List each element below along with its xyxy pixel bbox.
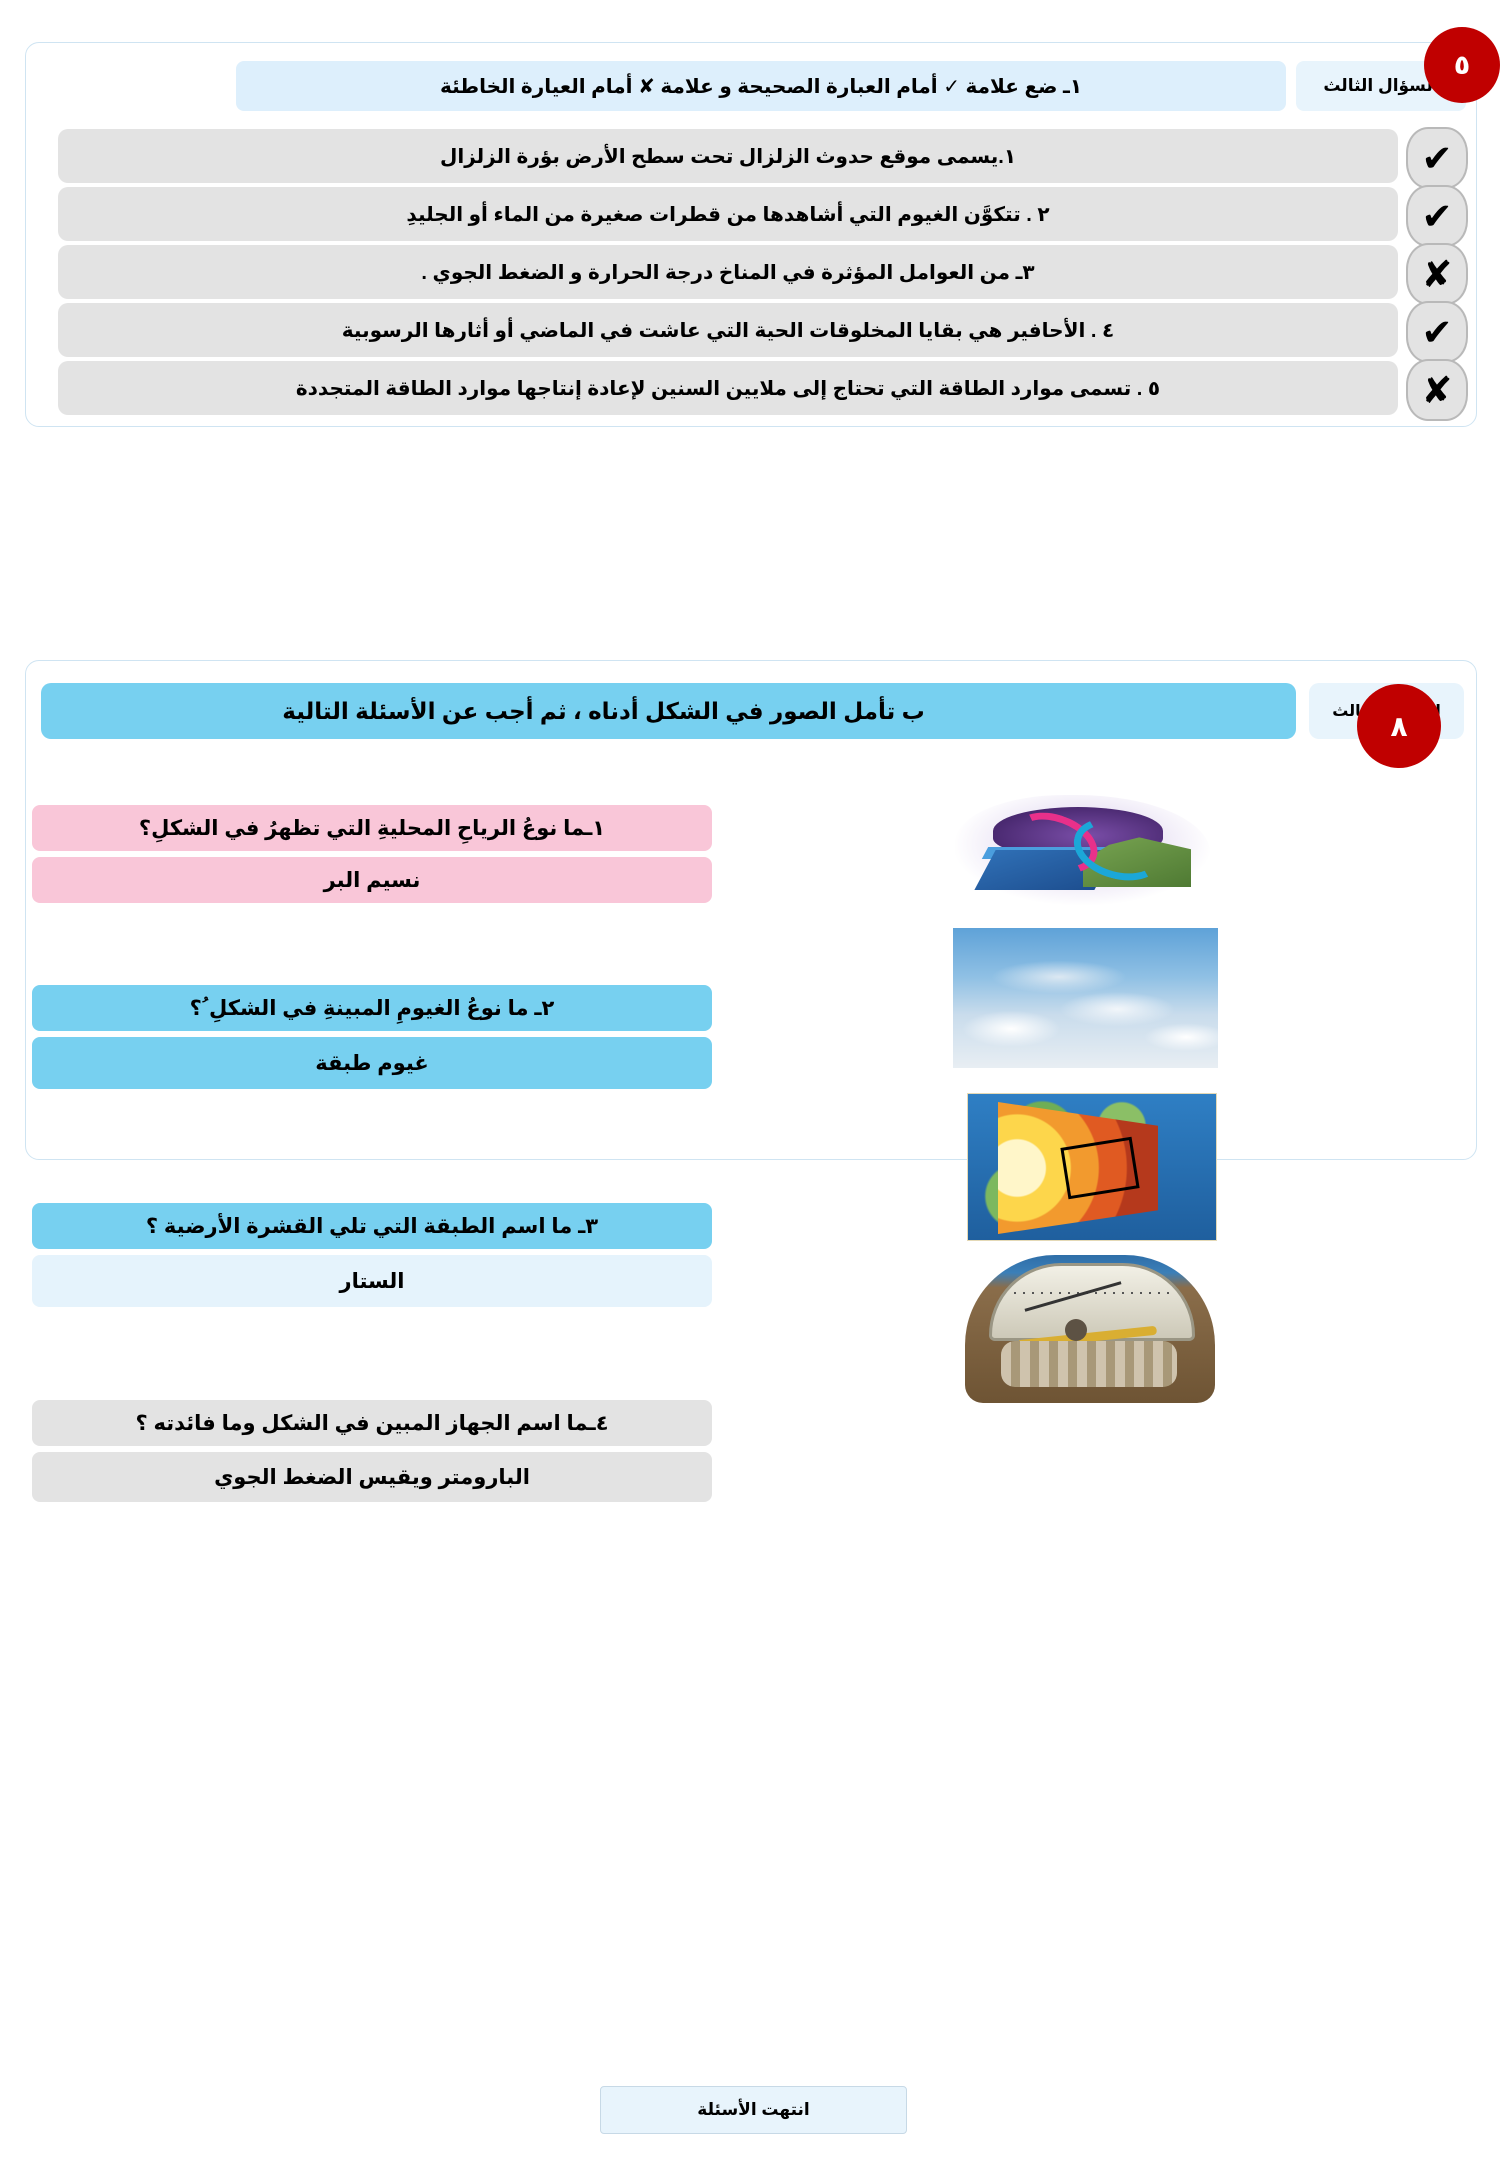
cloud-photo-surface — [953, 928, 1218, 1068]
statement-text: ٥ . تسمى موارد الطاقة التي تحتاج إلى ملا… — [58, 361, 1398, 415]
statement-text: ١.يسمى موقع حدوث الزلزال تحت سطح الأرض ب… — [58, 129, 1398, 183]
question-text-1: ١ـما نوعُ الرياحِ المحليةِ التي تظهرُ في… — [32, 805, 712, 851]
qa-block-barometer: ٤ـما اسم الجهاز المبين في الشكل وما فائد… — [32, 1400, 712, 1502]
qa-block-earth-layer: ٣ـ ما اسم الطبقة التي تلي القشرة الأرضية… — [32, 1203, 712, 1307]
statement-text: ٤ . الأحافير هي بقايا المخلوقات الحية ال… — [58, 303, 1398, 357]
land-sea-breeze-diagram-image — [955, 795, 1210, 905]
answer-mark-cross[interactable]: ✘ — [1406, 243, 1468, 305]
question-text-3: ٣ـ ما اسم الطبقة التي تلي القشرة الأرضية… — [32, 1203, 712, 1249]
barometer-aneroid-bellows — [1001, 1341, 1177, 1387]
question-text-4: ٤ـما اسم الجهاز المبين في الشكل وما فائد… — [32, 1400, 712, 1446]
statement-row: ١.يسمى موقع حدوث الزلزال تحت سطح الأرض ب… — [26, 129, 1476, 183]
statement-row: ٤ . الأحافير هي بقايا المخلوقات الحية ال… — [26, 303, 1476, 357]
barometer-illustration-image — [965, 1255, 1215, 1403]
answer-mark-checkmark[interactable]: ✔ — [1406, 127, 1468, 189]
card-one-instruction: ١ـ ضع علامة ✓ أمام العبارة الصحيحة و علا… — [236, 61, 1286, 111]
earth-layers-cutaway-image — [967, 1093, 1217, 1241]
answer-mark-checkmark[interactable]: ✔ — [1406, 185, 1468, 247]
statement-row: ٢ . تتكوَّن الغيوم التي أشاهدها من قطرات… — [26, 187, 1476, 241]
answer-mark-cross[interactable]: ✘ — [1406, 359, 1468, 421]
qa-block-cloud-type: ٢ـ ما نوعُ الغيومِ المبينةِ في الشكلِ ُ؟… — [32, 985, 712, 1089]
end-of-questions-box: انتهت الأسئلة — [600, 2086, 907, 2134]
statement-text: ٣ـ من العوامل المؤثرة في المناخ درجة الح… — [58, 245, 1398, 299]
answer-text-2: غيوم طبقة — [32, 1037, 712, 1089]
answer-mark-checkmark[interactable]: ✔ — [1406, 301, 1468, 363]
answer-text-4: البارومتر ويقيس الضغط الجوي — [32, 1452, 712, 1502]
card-two-instruction: ب تأمل الصور في الشكل أدناه ، ثم أجب عن … — [41, 683, 1296, 739]
question-card-true-false: ٥ السؤال الثالث ١ـ ضع علامة ✓ أمام العبا… — [25, 42, 1477, 427]
question-text-2: ٢ـ ما نوعُ الغيومِ المبينةِ في الشكلِ ُ؟ — [32, 985, 712, 1031]
earth-mantle-highlight-box — [1060, 1137, 1139, 1200]
answer-text-3: الستار — [32, 1255, 712, 1307]
marks-badge-card-one: ٥ — [1424, 27, 1500, 103]
statement-row: ٣ـ من العوامل المؤثرة في المناخ درجة الح… — [26, 245, 1476, 299]
marks-badge-card-two: ٨ — [1357, 684, 1441, 768]
answer-text-1: نسيم البر — [32, 857, 712, 903]
barometer-pivot — [1065, 1319, 1087, 1341]
qa-block-local-winds: ١ـما نوعُ الرياحِ المحليةِ التي تظهرُ في… — [32, 805, 712, 903]
statement-row: ٥ . تسمى موارد الطاقة التي تحتاج إلى ملا… — [26, 361, 1476, 415]
card-one-header: السؤال الثالث ١ـ ضع علامة ✓ أمام العبارة… — [26, 61, 1476, 111]
statement-text: ٢ . تتكوَّن الغيوم التي أشاهدها من قطرات… — [58, 187, 1398, 241]
stratus-clouds-photo-image — [953, 928, 1218, 1068]
